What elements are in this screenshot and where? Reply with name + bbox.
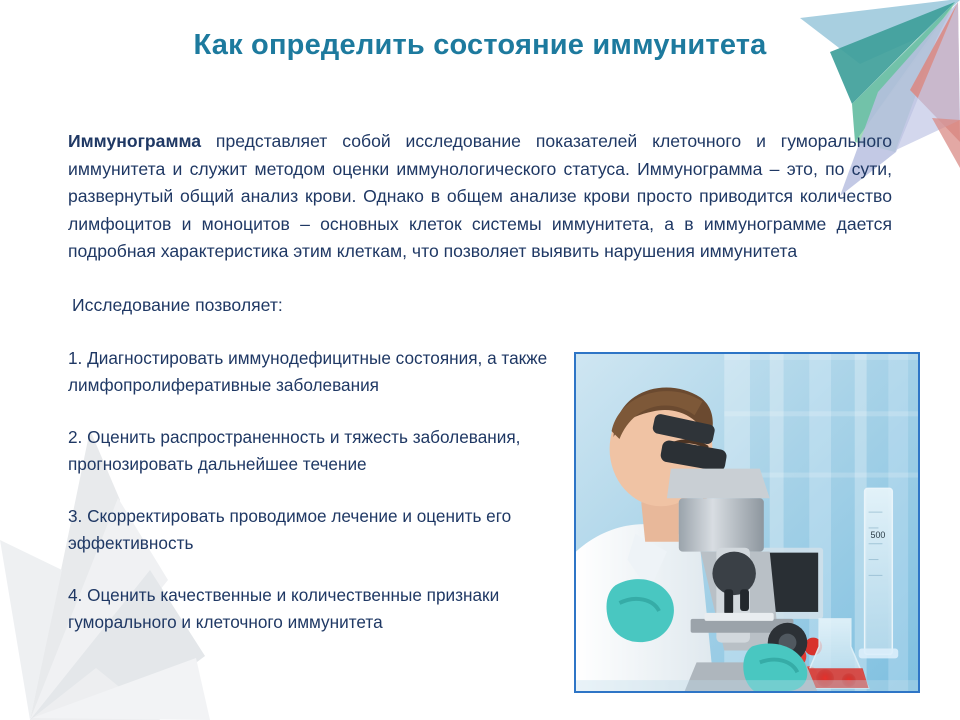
list-item: 3. Скорректировать проводимое лечение и … — [68, 503, 558, 556]
intro-paragraph: Иммунограмма представляет собой исследов… — [68, 128, 892, 266]
list-item: 4. Оценить качественные и количественные… — [68, 582, 558, 635]
lead-in-text: Исследование позволяет: — [72, 292, 572, 318]
page-title: Как определить состояние иммунитета — [0, 28, 960, 63]
deco-shape-green-dark — [852, 2, 955, 142]
laboratory-photo-image: 500 — [576, 354, 918, 691]
deco-shape-salmon2 — [932, 118, 960, 168]
intro-bold-term: Иммунограмма — [68, 131, 201, 151]
list-item: 1. Диагностировать иммунодефицитные сост… — [68, 345, 558, 398]
deco-shape-lavender2 — [896, 2, 960, 150]
deco-shape-salmon — [910, 2, 960, 142]
slide-canvas: Как определить состояние иммунитета Имму… — [0, 0, 960, 720]
deco-gray-shape-2 — [0, 540, 62, 720]
deco-gray-shape-6 — [32, 658, 210, 720]
benefits-list: 1. Диагностировать иммунодефицитные сост… — [68, 345, 558, 635]
list-item: 2. Оценить распространенность и тяжесть … — [68, 424, 558, 477]
laboratory-photo: 500 — [574, 352, 920, 693]
cylinder-label: 500 — [871, 530, 886, 540]
deco-gray-shape-5 — [30, 668, 160, 720]
